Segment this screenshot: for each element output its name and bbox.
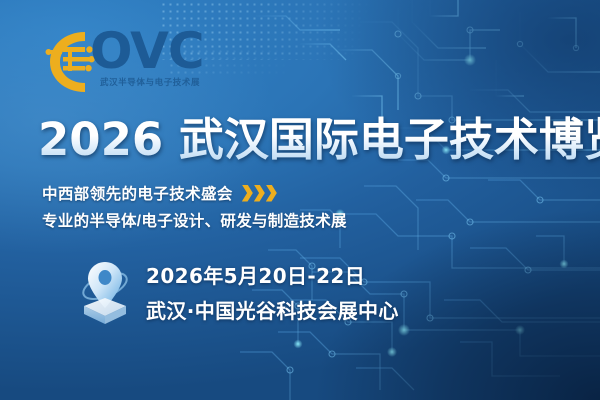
tagline-secondary: 专业的半导体/电子设计、研发与制造技术展 — [42, 209, 347, 231]
chevron-right-icon-group — [242, 185, 277, 202]
logo-wordmark: OVC — [90, 26, 204, 76]
ovc-circuit-mark-icon — [44, 30, 96, 94]
logo-subtitle: 武汉半导体与电子技术展 — [100, 76, 200, 88]
location-pin-icon — [78, 256, 132, 328]
page-title: 2026 武汉国际电子技术博览会 — [38, 116, 600, 163]
tagline-primary: 中西部领先的电子技术盛会 — [42, 182, 277, 204]
brand-logo[interactable]: OVC 武汉半导体与电子技术展 — [44, 28, 224, 96]
event-info-text: 2026年5月20日-22日 武汉·中国光谷科技会展中心 — [146, 260, 399, 324]
event-venue: 武汉·中国光谷科技会展中心 — [146, 295, 399, 324]
event-date: 2026年5月20日-22日 — [146, 260, 399, 289]
tagline-primary-text: 中西部领先的电子技术盛会 — [42, 182, 233, 204]
chevron-right-icon — [254, 185, 265, 202]
event-info-block: 2026年5月20日-22日 武汉·中国光谷科技会展中心 — [78, 256, 399, 328]
event-banner: OVC 武汉半导体与电子技术展 2026 武汉国际电子技术博览会 中西部领先的电… — [0, 0, 600, 400]
chevron-right-icon — [266, 185, 277, 202]
chevron-right-icon — [242, 185, 253, 202]
